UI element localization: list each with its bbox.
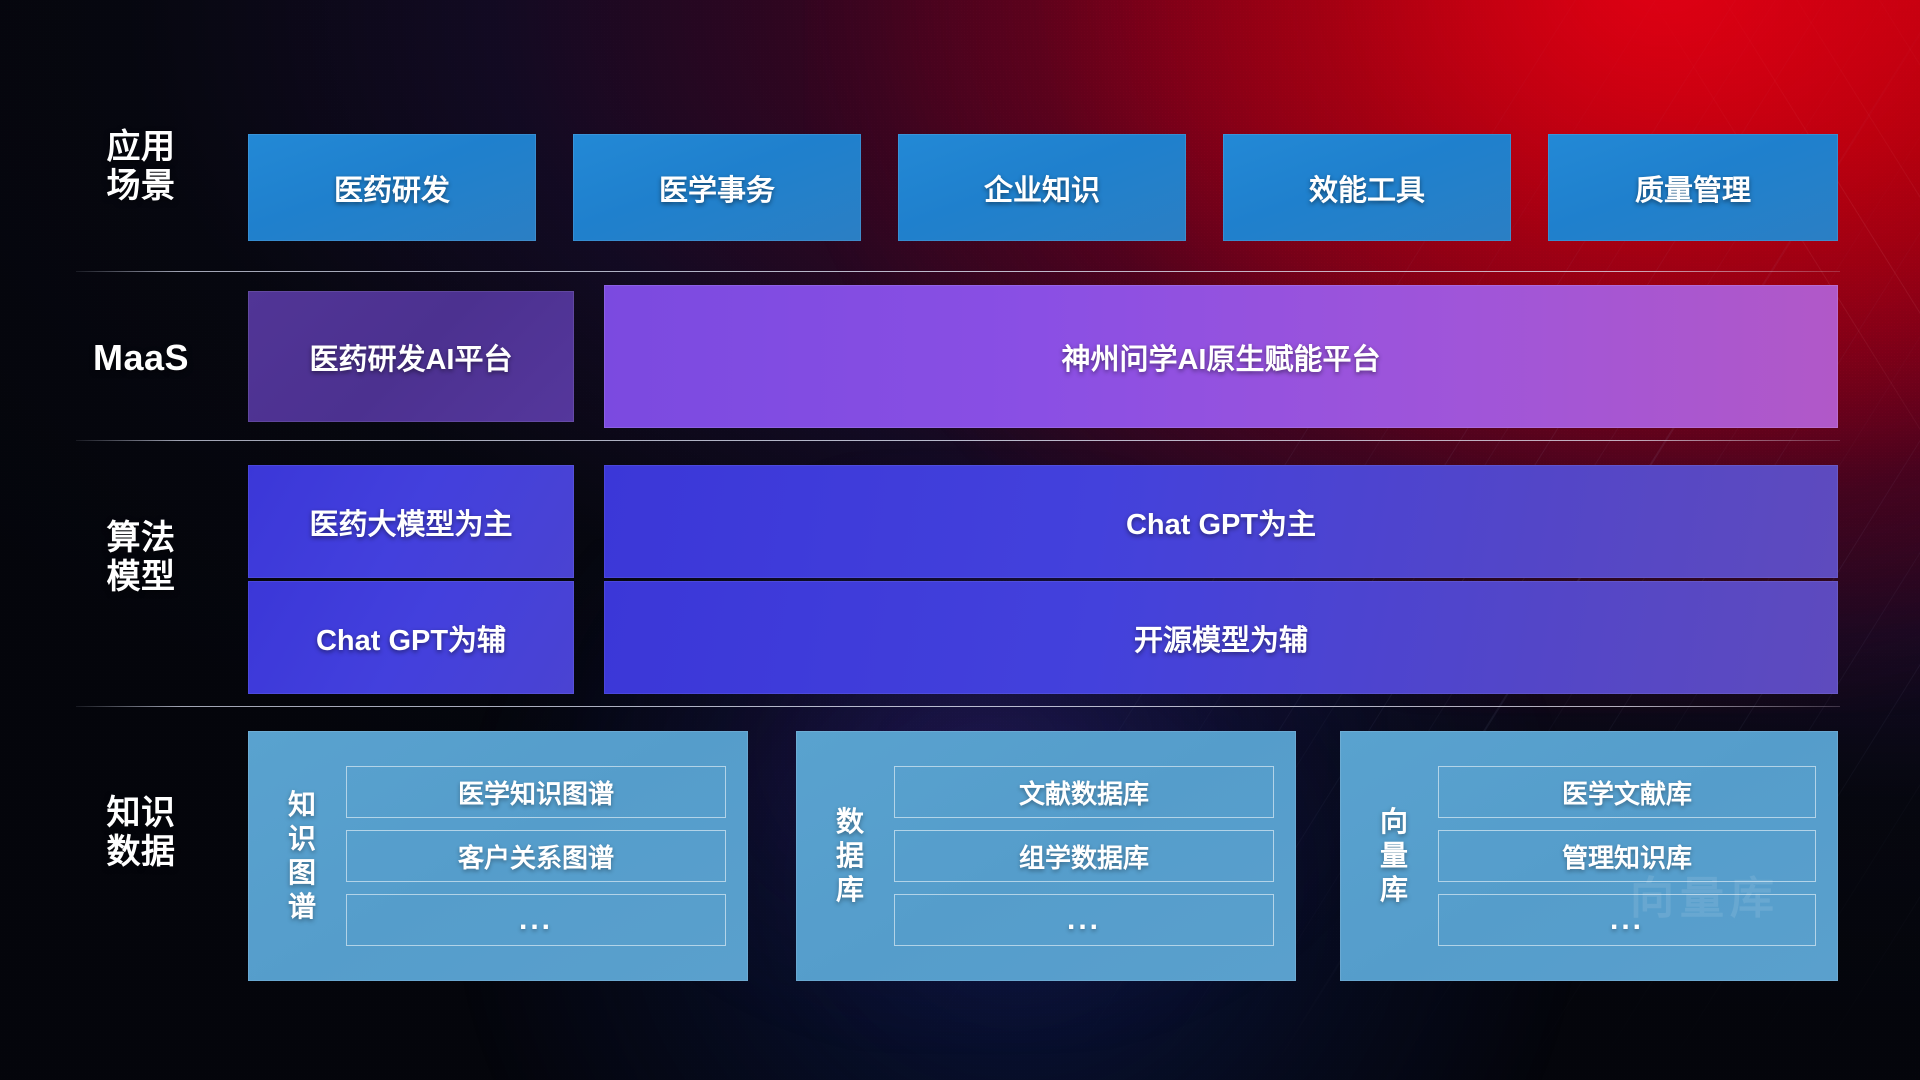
knowledge-group-items: 医学文献库 管理知识库 ... [1422,748,1838,964]
knowledge-group-title: 向 量 库 [1366,805,1422,907]
knowledge-item-more[interactable]: ... [894,894,1274,946]
maas-box-shenzhou-wenxue-platform[interactable]: 神州问学AI原生赋能平台 [604,285,1838,428]
knowledge-item-label: 组学数据库 [1019,838,1149,875]
algo-box-label: 医药大模型为主 [309,501,512,543]
app-box-efficiency-tools[interactable]: 效能工具 [1223,134,1511,241]
knowledge-item[interactable]: 医学知识图谱 [346,766,726,818]
knowledge-item[interactable]: 文献数据库 [894,766,1274,818]
app-box-medical-affairs[interactable]: 医学事务 [573,134,861,241]
maas-box-pharma-ai-platform[interactable]: 医药研发AI平台 [248,291,574,422]
knowledge-item-more[interactable]: ... [1438,894,1816,946]
knowledge-group-title: 知 识 图 谱 [274,788,330,925]
row-label-knowledge: 知识 数据 [76,794,206,873]
knowledge-group-items: 医学知识图谱 客户关系图谱 ... [330,748,748,964]
app-box-quality-management[interactable]: 质量管理 [1548,134,1838,241]
app-box-label: 医药研发 [334,167,450,209]
knowledge-item[interactable]: 组学数据库 [894,830,1274,882]
app-box-enterprise-knowledge[interactable]: 企业知识 [898,134,1186,241]
algo-box-opensource-secondary[interactable]: 开源模型为辅 [604,581,1838,694]
knowledge-item-label: 医学知识图谱 [458,774,614,811]
divider-maas-algorithm [76,440,1840,441]
knowledge-group-database[interactable]: 数 据 库 文献数据库 组学数据库 ... [796,731,1296,981]
algo-box-pharma-llm-primary[interactable]: 医药大模型为主 [248,465,574,578]
row-label-algorithm: 算法 模型 [76,519,206,598]
knowledge-group-items: 文献数据库 组学数据库 ... [878,748,1296,964]
row-label-maas: MaaS [76,337,206,379]
architecture-diagram: 应用 场景 医药研发 医学事务 企业知识 效能工具 质量管理 MaaS 医药研发… [0,0,1920,1080]
algo-box-label: 开源模型为辅 [1134,617,1308,659]
divider-application-maas [76,271,1840,272]
app-box-label: 效能工具 [1309,167,1425,209]
algo-box-label: Chat GPT为主 [1126,501,1316,543]
knowledge-item[interactable]: 医学文献库 [1438,766,1816,818]
knowledge-item-label: ... [1610,903,1644,937]
knowledge-item-label: 管理知识库 [1562,838,1692,875]
knowledge-item[interactable]: 客户关系图谱 [346,830,726,882]
knowledge-item[interactable]: 管理知识库 [1438,830,1816,882]
knowledge-group-knowledge-graph[interactable]: 知 识 图 谱 医学知识图谱 客户关系图谱 ... [248,731,748,981]
knowledge-item-label: 文献数据库 [1019,774,1149,811]
knowledge-item-more[interactable]: ... [346,894,726,946]
maas-box-label: 神州问学AI原生赋能平台 [1061,336,1380,378]
algo-box-chatgpt-secondary[interactable]: Chat GPT为辅 [248,581,574,694]
app-box-label: 医学事务 [659,167,775,209]
app-box-label: 质量管理 [1635,167,1751,209]
knowledge-item-label: 医学文献库 [1562,774,1692,811]
knowledge-group-title: 数 据 库 [822,805,878,907]
app-box-medical-rd[interactable]: 医药研发 [248,134,536,241]
row-label-application: 应用 场景 [76,128,206,207]
maas-box-label: 医药研发AI平台 [309,336,512,378]
knowledge-group-vector-store[interactable]: 向 量 库 医学文献库 管理知识库 ... [1340,731,1838,981]
knowledge-item-label: 客户关系图谱 [458,838,614,875]
divider-algorithm-knowledge [76,706,1840,707]
app-box-label: 企业知识 [984,167,1100,209]
algo-box-label: Chat GPT为辅 [316,617,506,659]
algo-box-chatgpt-primary[interactable]: Chat GPT为主 [604,465,1838,578]
knowledge-item-label: ... [519,903,553,937]
knowledge-item-label: ... [1067,903,1101,937]
